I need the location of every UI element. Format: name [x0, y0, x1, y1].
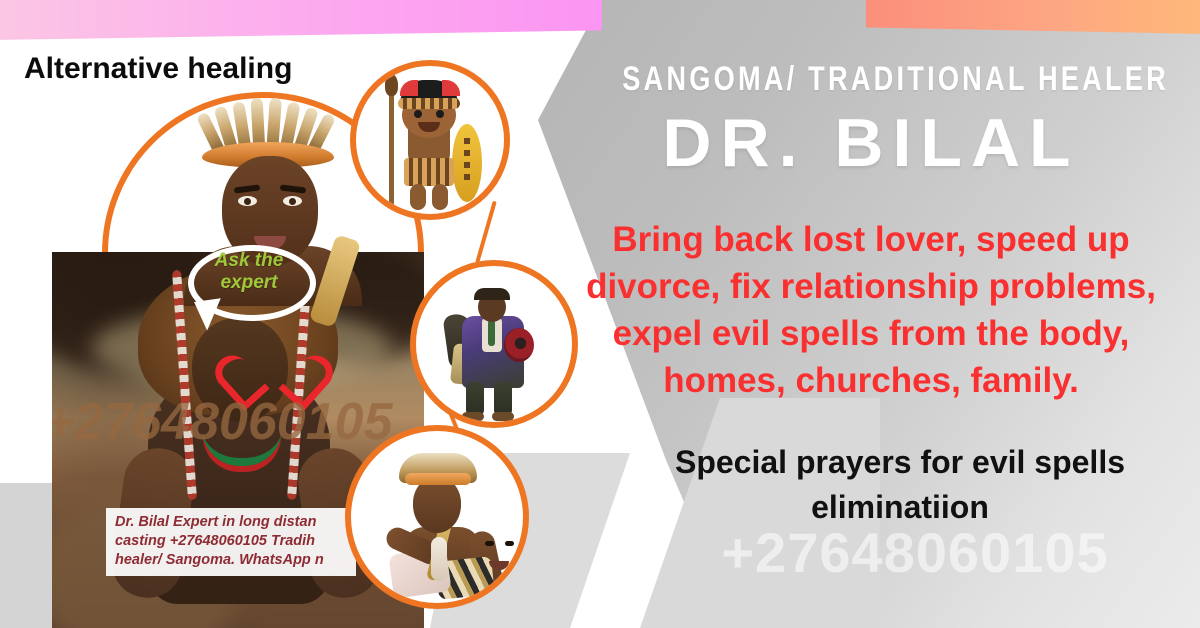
page-title: Alternative healing [24, 52, 292, 86]
services-text-red: Bring back lost lover, speed up divorce,… [546, 216, 1196, 404]
photo-phone-overlay: +27648060105 [52, 392, 424, 452]
caption-line-3: healer/ Sangoma. WhatsApp n [115, 551, 349, 570]
special-prayers-text: Special prayers for evil spells eliminat… [600, 440, 1200, 530]
services-line-2: divorce, fix relationship problems, [546, 263, 1196, 310]
prayers-line-1: Special prayers for evil spells [600, 440, 1200, 485]
circle-connector-line [475, 201, 496, 264]
caption-line-1: Dr. Bilal Expert in long distan [115, 513, 349, 532]
caption-line-2: casting +27648060105 Tradih [115, 532, 349, 551]
services-line-4: homes, churches, family. [546, 357, 1196, 404]
pink-top-banner [0, 0, 602, 40]
circle-zulu-warrior-illustration [350, 60, 510, 220]
phone-number-watermark: +27648060105 [630, 520, 1200, 585]
subtitle-kicker: SANGOMA/ TRADITIONAL HEALER [622, 60, 1120, 99]
poster-canvas: Alternative healing +27648060105 [0, 0, 1200, 628]
headline-title: DR. BILAL [560, 104, 1182, 182]
services-line-3: expel evil spells from the body, [546, 310, 1196, 357]
speech-bubble-label: Ask the expert [196, 250, 302, 294]
services-line-1: Bring back lost lover, speed up [546, 216, 1196, 263]
circle-crouching-sangoma-illustration [345, 425, 529, 609]
photo-caption-box: Dr. Bilal Expert in long distan casting … [106, 508, 356, 576]
